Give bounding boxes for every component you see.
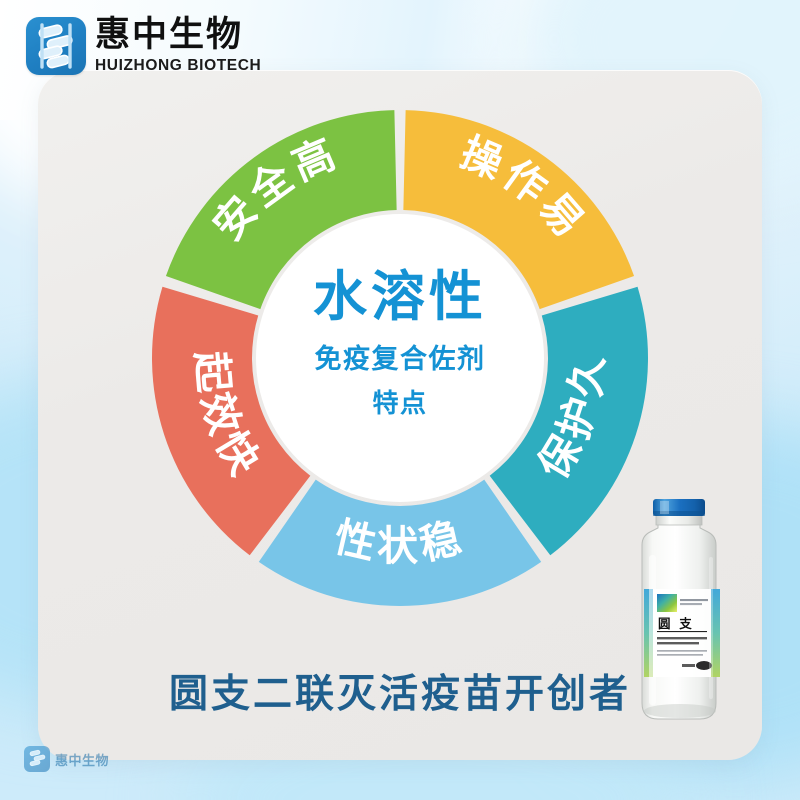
- svg-text:圆 支: 圆 支: [658, 616, 694, 631]
- donut-hub: [256, 214, 544, 502]
- donut-slice-label-4: 性状稳: [330, 513, 471, 570]
- features-donut-chart: 安全高操作易保护久性状稳起效快: [140, 98, 660, 618]
- brand-logo[interactable]: 惠中生物 HUIZHONG BIOTECH: [26, 17, 261, 75]
- poster-canvas: 惠中生物 HUIZHONG BIOTECH 安全高操作易保护久性状稳起效快 水溶…: [0, 0, 800, 800]
- huizhong-logo-icon-small: [24, 746, 50, 772]
- brand-name-cn: 惠中生物: [95, 18, 261, 53]
- huizhong-logo-icon: [26, 17, 86, 75]
- corner-watermark: 惠中生物: [24, 746, 109, 772]
- product-vial-image: 圆 支: [620, 497, 738, 729]
- corner-watermark-label: 惠中生物: [55, 750, 109, 769]
- brand-logo-text: 惠中生物 HUIZHONG BIOTECH: [95, 18, 261, 74]
- brand-name-en: HUIZHONG BIOTECH: [95, 58, 261, 74]
